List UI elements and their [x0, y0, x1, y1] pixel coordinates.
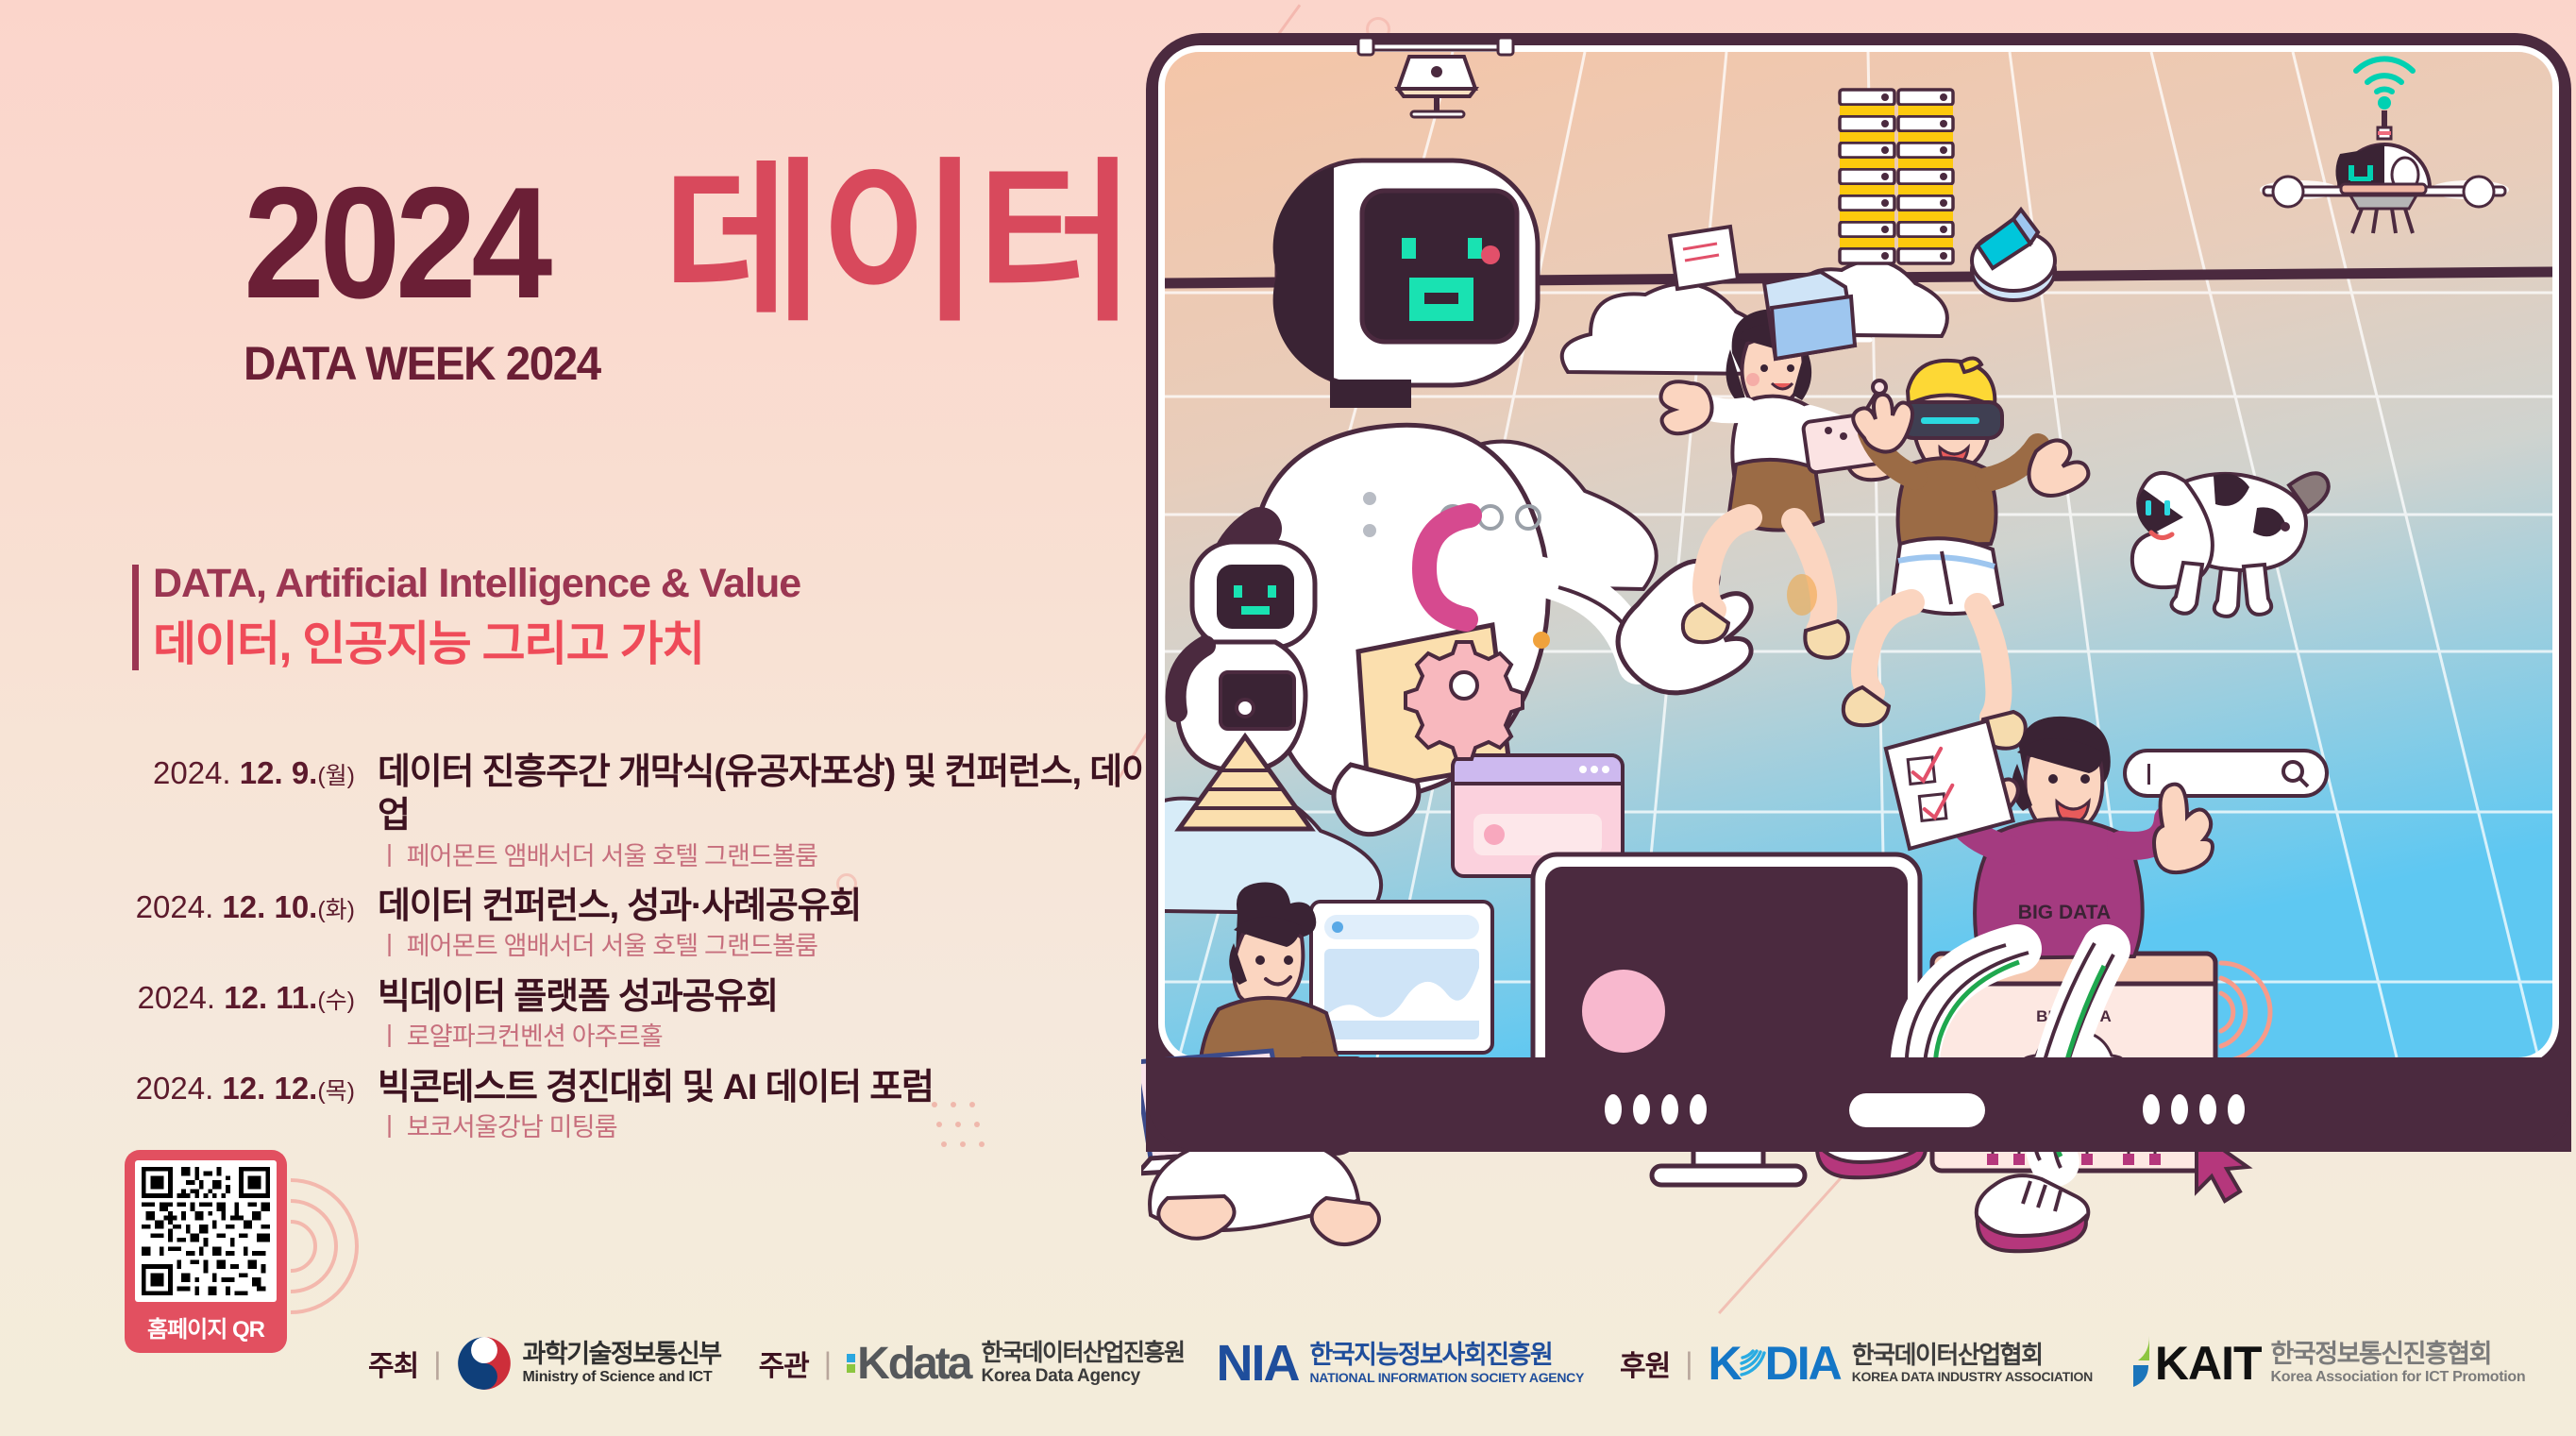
schedule-venue: ㅣ 로얄파크컨벤션 아주르홀: [378, 1022, 1238, 1052]
footer-logo-bar: 주최 | 과학기술정보통신부 Ministry of Science and I…: [368, 1334, 2557, 1393]
kait-mark-icon: KAIT: [2155, 1336, 2262, 1391]
schedule-day: 12.: [274, 1071, 317, 1106]
schedule-month: 12.: [240, 755, 283, 790]
logo-mosict-ko: 과학기술정보통신부: [523, 1341, 721, 1367]
subtitle-block: DATA, Artificial Intelligence & Value 데이…: [132, 559, 800, 673]
schedule-row: 2024. 12. 11.(수) 빅데이터 플랫폼 성과공유회 ㅣ 로얄파크컨벤…: [125, 975, 1238, 1053]
logo-nia: NIA 한국지능정보사회진흥원 NATIONAL INFORMATION SOC…: [1216, 1334, 1584, 1393]
schedule-dow: (목): [317, 1078, 355, 1105]
schedule-day: 9.: [292, 755, 318, 790]
schedule-date: 2024. 12. 9.(월): [125, 751, 378, 794]
footer-role-sponsor: 후원: [1620, 1343, 1670, 1384]
logo-kodia-en: KOREA DATA INDUSTRY ASSOCIATION: [1852, 1370, 2093, 1384]
qr-code-icon[interactable]: [135, 1160, 277, 1302]
schedule-row: 2024. 12. 10.(화) 데이터 컨퍼런스, 성과·사례공유회 ㅣ 페어…: [125, 885, 1238, 962]
home-button: [1849, 1093, 1985, 1127]
kdata-word-glyph: data: [888, 1338, 970, 1390]
gear-icon: [1406, 642, 1523, 759]
kodia-swirl-icon: [1736, 1344, 1768, 1382]
qr-label: 홈페이지 QR: [135, 1307, 277, 1347]
schedule-dow: (화): [317, 897, 355, 923]
footer-separator: |: [824, 1346, 832, 1381]
illustration-scene: BIG DATA: [1141, 0, 2576, 1322]
title-year: 2024: [244, 165, 589, 321]
kodia-mark-icon: K DIA: [1709, 1336, 1841, 1391]
footer-group-sponsor: 후원 | K DIA 한국데이터산업협회 KOREA DATA IN: [1620, 1334, 2557, 1393]
footer-role-organizer: 주관: [759, 1343, 809, 1384]
small-shape: [1787, 574, 1817, 616]
title-ko-data: 데이터: [663, 158, 1134, 332]
schedule-year: 2024.: [153, 755, 231, 790]
kdata-k-glyph: K: [857, 1338, 888, 1390]
deco-signal-arcs: [283, 1161, 387, 1322]
logo-kait-ko: 한국정보통신진흥협회: [2271, 1341, 2526, 1367]
speaker-dots: [1605, 1093, 2245, 1127]
schedule-date: 2024. 12. 10.(화): [125, 885, 378, 928]
subtitle-en: DATA, Artificial Intelligence & Value: [153, 559, 800, 608]
logo-mosict: 과학기술정보통신부 Ministry of Science and ICT: [457, 1336, 721, 1391]
schedule-venue: ㅣ 보코서울강남 미팅룸: [378, 1112, 1238, 1142]
folder-shape: [1764, 272, 1855, 359]
chart-card: [1311, 902, 1492, 1053]
logo-kait: KAIT 한국정보통신진흥협회 Korea Association for IC…: [2125, 1334, 2525, 1393]
sneaker-right: [1977, 1175, 2089, 1251]
tablet-device: BIG DATA: [1141, 33, 2571, 1251]
schedule-dow: (수): [317, 988, 355, 1014]
schedule-title: 데이터 진흥주간 개막식(유공자포상) 및 컨퍼런스, 데이터 밋업: [378, 751, 1238, 838]
small-dot: [1481, 245, 1500, 264]
poster-canvas: 2024 DATA WEEK 2024 데이터 진흥주간 DATA, Artif…: [0, 0, 2576, 1436]
search-bar[interactable]: [2125, 751, 2327, 796]
schedule-year: 2024.: [136, 889, 214, 924]
schedule-day: 10.: [274, 889, 317, 924]
schedule-month: 12.: [224, 980, 267, 1015]
title-en-tagline: DATA WEEK 2024: [244, 336, 600, 391]
schedule-list: 2024. 12. 9.(월) 데이터 진흥주간 개막식(유공자포상) 및 컨퍼…: [125, 751, 1238, 1156]
schedule-date: 2024. 12. 12.(목): [125, 1066, 378, 1109]
schedule-venue: ㅣ 페어몬트 앰배서더 서울 호텔 그랜드볼룸: [378, 841, 1238, 871]
schedule-row: 2024. 12. 9.(월) 데이터 진흥주간 개막식(유공자포상) 및 컨퍼…: [125, 751, 1238, 871]
logo-nia-en: NATIONAL INFORMATION SOCIETY AGENCY: [1309, 1371, 1584, 1385]
footer-group-host: 주최 | 과학기술정보통신부 Ministry of Science and I…: [368, 1336, 753, 1391]
logo-kdata: K data 한국데이터산업진흥원 Korea Data Agency: [847, 1338, 1184, 1390]
schedule-dow: (월): [317, 763, 355, 789]
footer-role-host: 주최: [368, 1343, 418, 1384]
logo-kodia-ko: 한국데이터산업협회: [1852, 1343, 2093, 1368]
logo-mosict-en: Ministry of Science and ICT: [523, 1370, 721, 1386]
logo-kodia: K DIA 한국데이터산업협회 KOREA DATA INDUSTRY ASSO…: [1709, 1336, 2093, 1391]
logo-kait-en: Korea Association for ICT Promotion: [2271, 1370, 2526, 1386]
footer-separator: |: [1685, 1346, 1692, 1381]
footer-separator: |: [433, 1346, 441, 1381]
homepage-qr-block[interactable]: 홈페이지 QR: [125, 1150, 287, 1353]
schedule-title: 빅데이터 플랫폼 성과공유회: [378, 975, 1238, 1019]
schedule-title: 데이터 컨퍼런스, 성과·사례공유회: [378, 885, 1238, 928]
taegeuk-icon: [457, 1336, 512, 1391]
schedule-venue: ㅣ 페어몬트 앰배서더 서울 호텔 그랜드볼룸: [378, 931, 1238, 961]
schedule-year: 2024.: [137, 980, 215, 1015]
subtitle-ko: 데이터, 인공지능 그리고 가치: [153, 616, 800, 673]
logo-kdata-en: Korea Data Agency: [981, 1367, 1184, 1386]
schedule-date: 2024. 12. 11.(수): [125, 975, 378, 1019]
footer-group-organizer: 주관 | K data 한국데이터산업진흥원 Korea Data Agency: [759, 1334, 1616, 1393]
schedule-month: 12.: [222, 889, 265, 924]
nia-mark-icon: NIA: [1216, 1334, 1298, 1393]
schedule-month: 12.: [222, 1071, 265, 1106]
sweater-bigdata-text: BIG DATA: [2018, 902, 2111, 923]
kait-leaf-icon: [2125, 1334, 2157, 1393]
logo-nia-ko: 한국지능정보사회진흥원: [1309, 1342, 1584, 1368]
schedule-row: 2024. 12. 12.(목) 빅콘테스트 경진대회 및 AI 데이터 포럼 …: [125, 1066, 1238, 1143]
schedule-year: 2024.: [136, 1071, 214, 1106]
logo-kdata-ko: 한국데이터산업진흥원: [981, 1341, 1184, 1365]
kdata-mark-icon: K data: [847, 1338, 969, 1390]
schedule-title: 빅콘테스트 경진대회 및 AI 데이터 포럼: [378, 1066, 1238, 1109]
small-dot: [1533, 632, 1550, 649]
paper-sheet: [1670, 227, 1738, 289]
schedule-day: 11.: [276, 980, 317, 1015]
kdata-squares-icon: [847, 1354, 855, 1373]
